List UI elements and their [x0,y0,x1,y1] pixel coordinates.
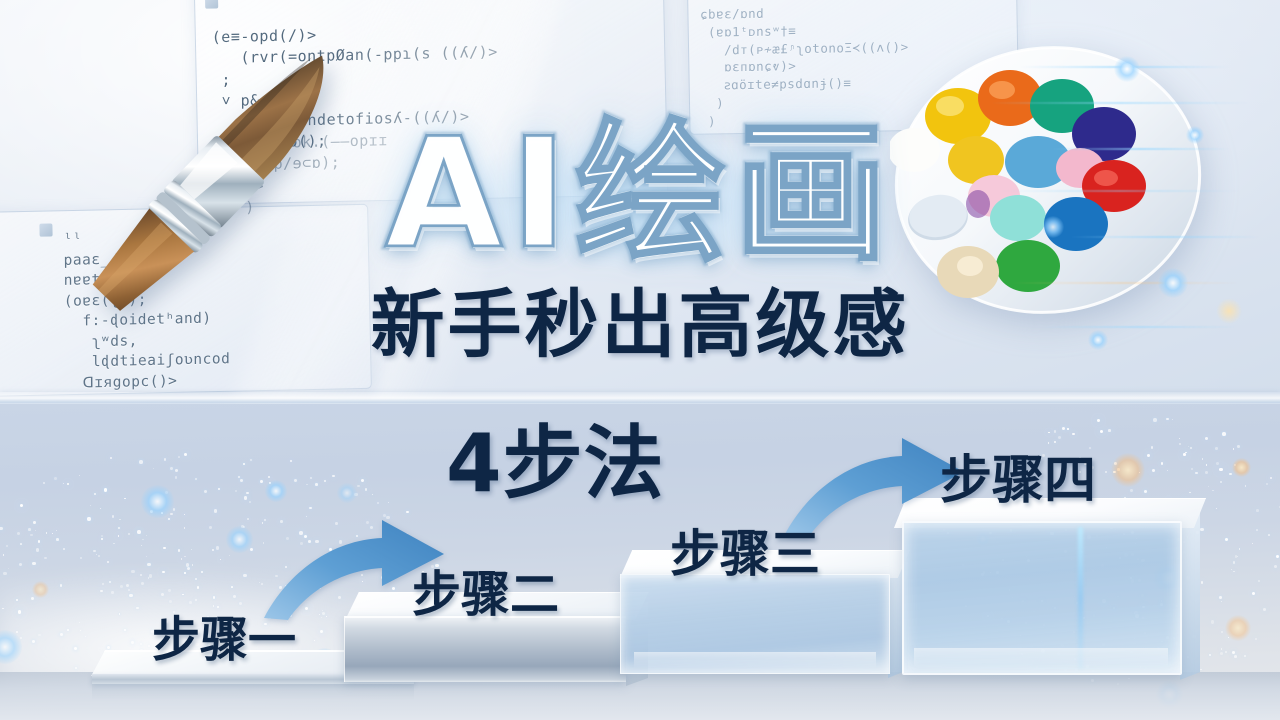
step-2-platform-side [626,602,648,686]
floor-glow [0,660,1280,720]
step-4-platform-edge-light [1078,527,1083,669]
step-1-platform-reflection [92,684,414,700]
step-3-platform-inner-glow [634,652,876,668]
step-1-platform-face [92,674,414,684]
step-1-label: 步骤一 [152,616,296,664]
step-4-platform-side [1180,508,1200,680]
big-step-label: 4步法 [446,424,665,504]
step-3-platform-side [888,558,908,678]
floor-surface [0,672,1280,720]
floor-mist [0,540,760,720]
panel-dot-icon [205,0,218,9]
particle-nebula-right [930,400,1280,700]
step-2-platform-face [344,616,626,682]
step-3-platform-face [620,574,890,674]
step-3-label: 步骤三 [670,529,820,579]
section-divider [0,392,1280,410]
poster-root: (e≡-opd(/)> (rvr(=ontpØan(-ppɿ(s ((ʎ/)> … [0,0,1280,720]
step-4-platform-inner-glow [914,648,1168,668]
step-4-platform-face [902,521,1182,675]
step-4-label: 步骤四 [940,455,1096,507]
page-subtitle: 新手秒出高级感 [0,288,1280,362]
page-title: AI绘画 [0,118,1280,270]
step-2-label: 步骤二 [412,570,559,619]
